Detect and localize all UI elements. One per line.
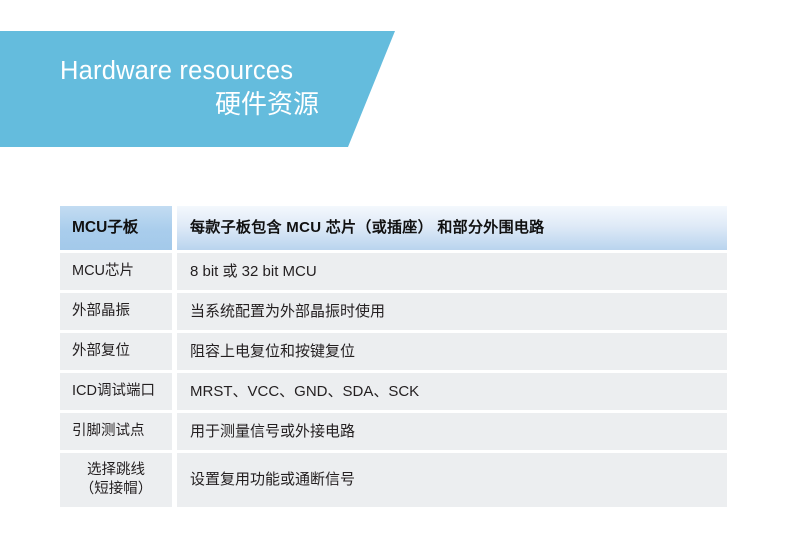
row-value-label: MRST、VCC、GND、SDA、SCK [177,373,727,410]
table-cell-key: MCU芯片 [60,253,172,290]
table-row: ICD调试端口 MRST、VCC、GND、SDA、SCK [60,373,727,410]
table-cell-key: 选择跳线 （短接帽） [60,453,172,507]
row-key-label-multiline: 选择跳线 （短接帽） [60,453,172,507]
table-cell-key: 外部复位 [60,333,172,370]
hardware-resources-table: MCU子板 每款子板包含 MCU 芯片（或插座） 和部分外围电路 MCU芯片 8… [55,203,732,510]
table-cell-value: 当系统配置为外部晶振时使用 [177,293,727,330]
table-header-key-label: MCU子板 [60,206,172,250]
row-key-label: MCU芯片 [60,253,172,290]
table-header-cell-value: 每款子板包含 MCU 芯片（或插座） 和部分外围电路 [177,206,727,250]
table-cell-key: 引脚测试点 [60,413,172,450]
table-row: 外部复位 阻容上电复位和按键复位 [60,333,727,370]
banner-title-english: Hardware resources [18,56,330,88]
table-row: 选择跳线 （短接帽） 设置复用功能或通断信号 [60,453,727,507]
table-header-row: MCU子板 每款子板包含 MCU 芯片（或插座） 和部分外围电路 [60,206,727,250]
table-cell-key: 外部晶振 [60,293,172,330]
table-cell-value: MRST、VCC、GND、SDA、SCK [177,373,727,410]
row-value-label: 当系统配置为外部晶振时使用 [177,293,727,330]
row-key-label: 外部晶振 [60,293,172,330]
row-value-label: 阻容上电复位和按键复位 [177,333,727,370]
row-value-label: 用于测量信号或外接电路 [177,413,727,450]
table-cell-value: 设置复用功能或通断信号 [177,453,727,507]
row-key-label: ICD调试端口 [60,373,172,410]
banner-title-chinese: 硬件资源 [18,88,330,122]
row-key-label: 外部复位 [60,333,172,370]
row-key-line-1: 选择跳线 [87,461,145,480]
table-body: MCU子板 每款子板包含 MCU 芯片（或插座） 和部分外围电路 MCU芯片 8… [60,206,727,507]
table-header-value-label: 每款子板包含 MCU 芯片（或插座） 和部分外围电路 [177,206,727,250]
page-banner: Hardware resources 硬件资源 [0,0,790,180]
hardware-resources-table-container: MCU子板 每款子板包含 MCU 芯片（或插座） 和部分外围电路 MCU芯片 8… [60,206,734,507]
row-key-label: 引脚测试点 [60,413,172,450]
table-row: 外部晶振 当系统配置为外部晶振时使用 [60,293,727,330]
table-cell-key: ICD调试端口 [60,373,172,410]
table-cell-value: 阻容上电复位和按键复位 [177,333,727,370]
table-row: MCU芯片 8 bit 或 32 bit MCU [60,253,727,290]
table-header-cell-key: MCU子板 [60,206,172,250]
table-row: 引脚测试点 用于测量信号或外接电路 [60,413,727,450]
table-cell-value: 用于测量信号或外接电路 [177,413,727,450]
row-value-label: 8 bit 或 32 bit MCU [177,253,727,290]
banner-text-block: Hardware resources 硬件资源 [0,31,330,147]
row-value-label: 设置复用功能或通断信号 [177,453,727,507]
table-cell-value: 8 bit 或 32 bit MCU [177,253,727,290]
row-key-line-2: （短接帽） [80,480,153,499]
